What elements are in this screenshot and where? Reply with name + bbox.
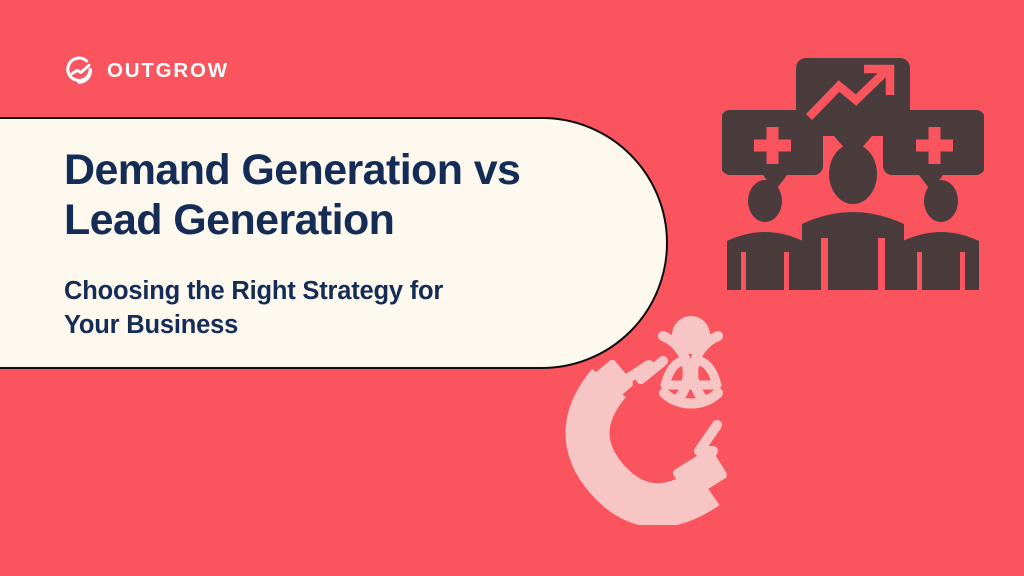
person-in-circle-icon [663, 316, 718, 403]
page-title: Demand Generation vs Lead Generation [64, 145, 624, 246]
person-right [903, 180, 979, 290]
page-subtitle: Choosing the Right Strategy for Your Bus… [64, 274, 624, 343]
lead-magnet-illustration [565, 305, 793, 525]
outgrow-wordmark: OUTGROW [107, 61, 229, 82]
headline-card-content: Demand Generation vs Lead Generation Cho… [64, 145, 624, 343]
three-people-with-speech-bubbles-illustration [722, 44, 984, 296]
outgrow-logo[interactable]: OUTGROW [62, 54, 229, 88]
lightning-bolt-icon-upper [627, 361, 663, 379]
outgrow-circle-swoosh-icon [62, 54, 96, 88]
person-left [727, 180, 803, 290]
horseshoe-magnet-icon [577, 358, 728, 505]
promo-banner: OUTGROW Demand Generation vs Lead Genera… [0, 0, 1024, 576]
